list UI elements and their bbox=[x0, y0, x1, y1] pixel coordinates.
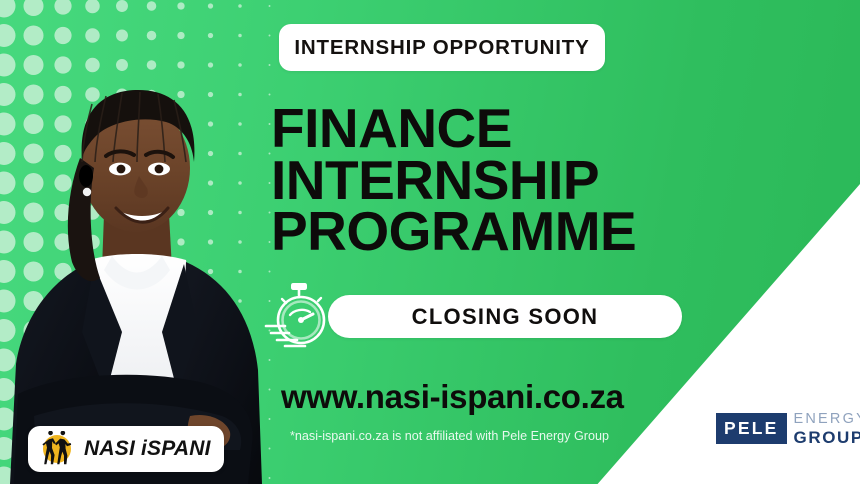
nasi-ispani-wordmark: NASI iSPANI bbox=[84, 437, 211, 461]
website-url[interactable]: www.nasi-ispani.co.za bbox=[281, 378, 624, 416]
two-dancers-icon bbox=[37, 431, 77, 467]
closing-soon-label: CLOSING SOON bbox=[412, 304, 599, 330]
person-photo bbox=[0, 64, 294, 484]
stopwatch-icon bbox=[263, 279, 335, 351]
pele-right-text: ENERGY GROUP bbox=[794, 412, 860, 446]
headline-line-1: FINANCE bbox=[271, 103, 701, 155]
internship-opportunity-badge: INTERNSHIP OPPORTUNITY bbox=[279, 24, 605, 71]
pele-group-label: GROUP bbox=[794, 429, 860, 446]
nasi-ispani-logo: NASI iSPANI bbox=[28, 426, 224, 472]
headline-line-3: PROGRAMME bbox=[271, 206, 701, 258]
disclaimer-text: *nasi-ispani.co.za is not affiliated wit… bbox=[290, 427, 642, 445]
pele-energy-group-logo: PELE ENERGY GROUP bbox=[716, 412, 860, 446]
pele-wordmark: PELE bbox=[724, 418, 779, 439]
pele-energy-label: ENERGY bbox=[794, 412, 860, 427]
page-title: FINANCE INTERNSHIP PROGRAMME bbox=[271, 103, 701, 258]
pele-block: PELE bbox=[716, 413, 787, 444]
headline-line-2: INTERNSHIP bbox=[271, 155, 701, 207]
badge-label: INTERNSHIP OPPORTUNITY bbox=[294, 36, 589, 60]
poster-canvas: INTERNSHIP OPPORTUNITY FINANCE INTERNSHI… bbox=[0, 0, 860, 484]
closing-soon-badge: CLOSING SOON bbox=[328, 295, 682, 338]
